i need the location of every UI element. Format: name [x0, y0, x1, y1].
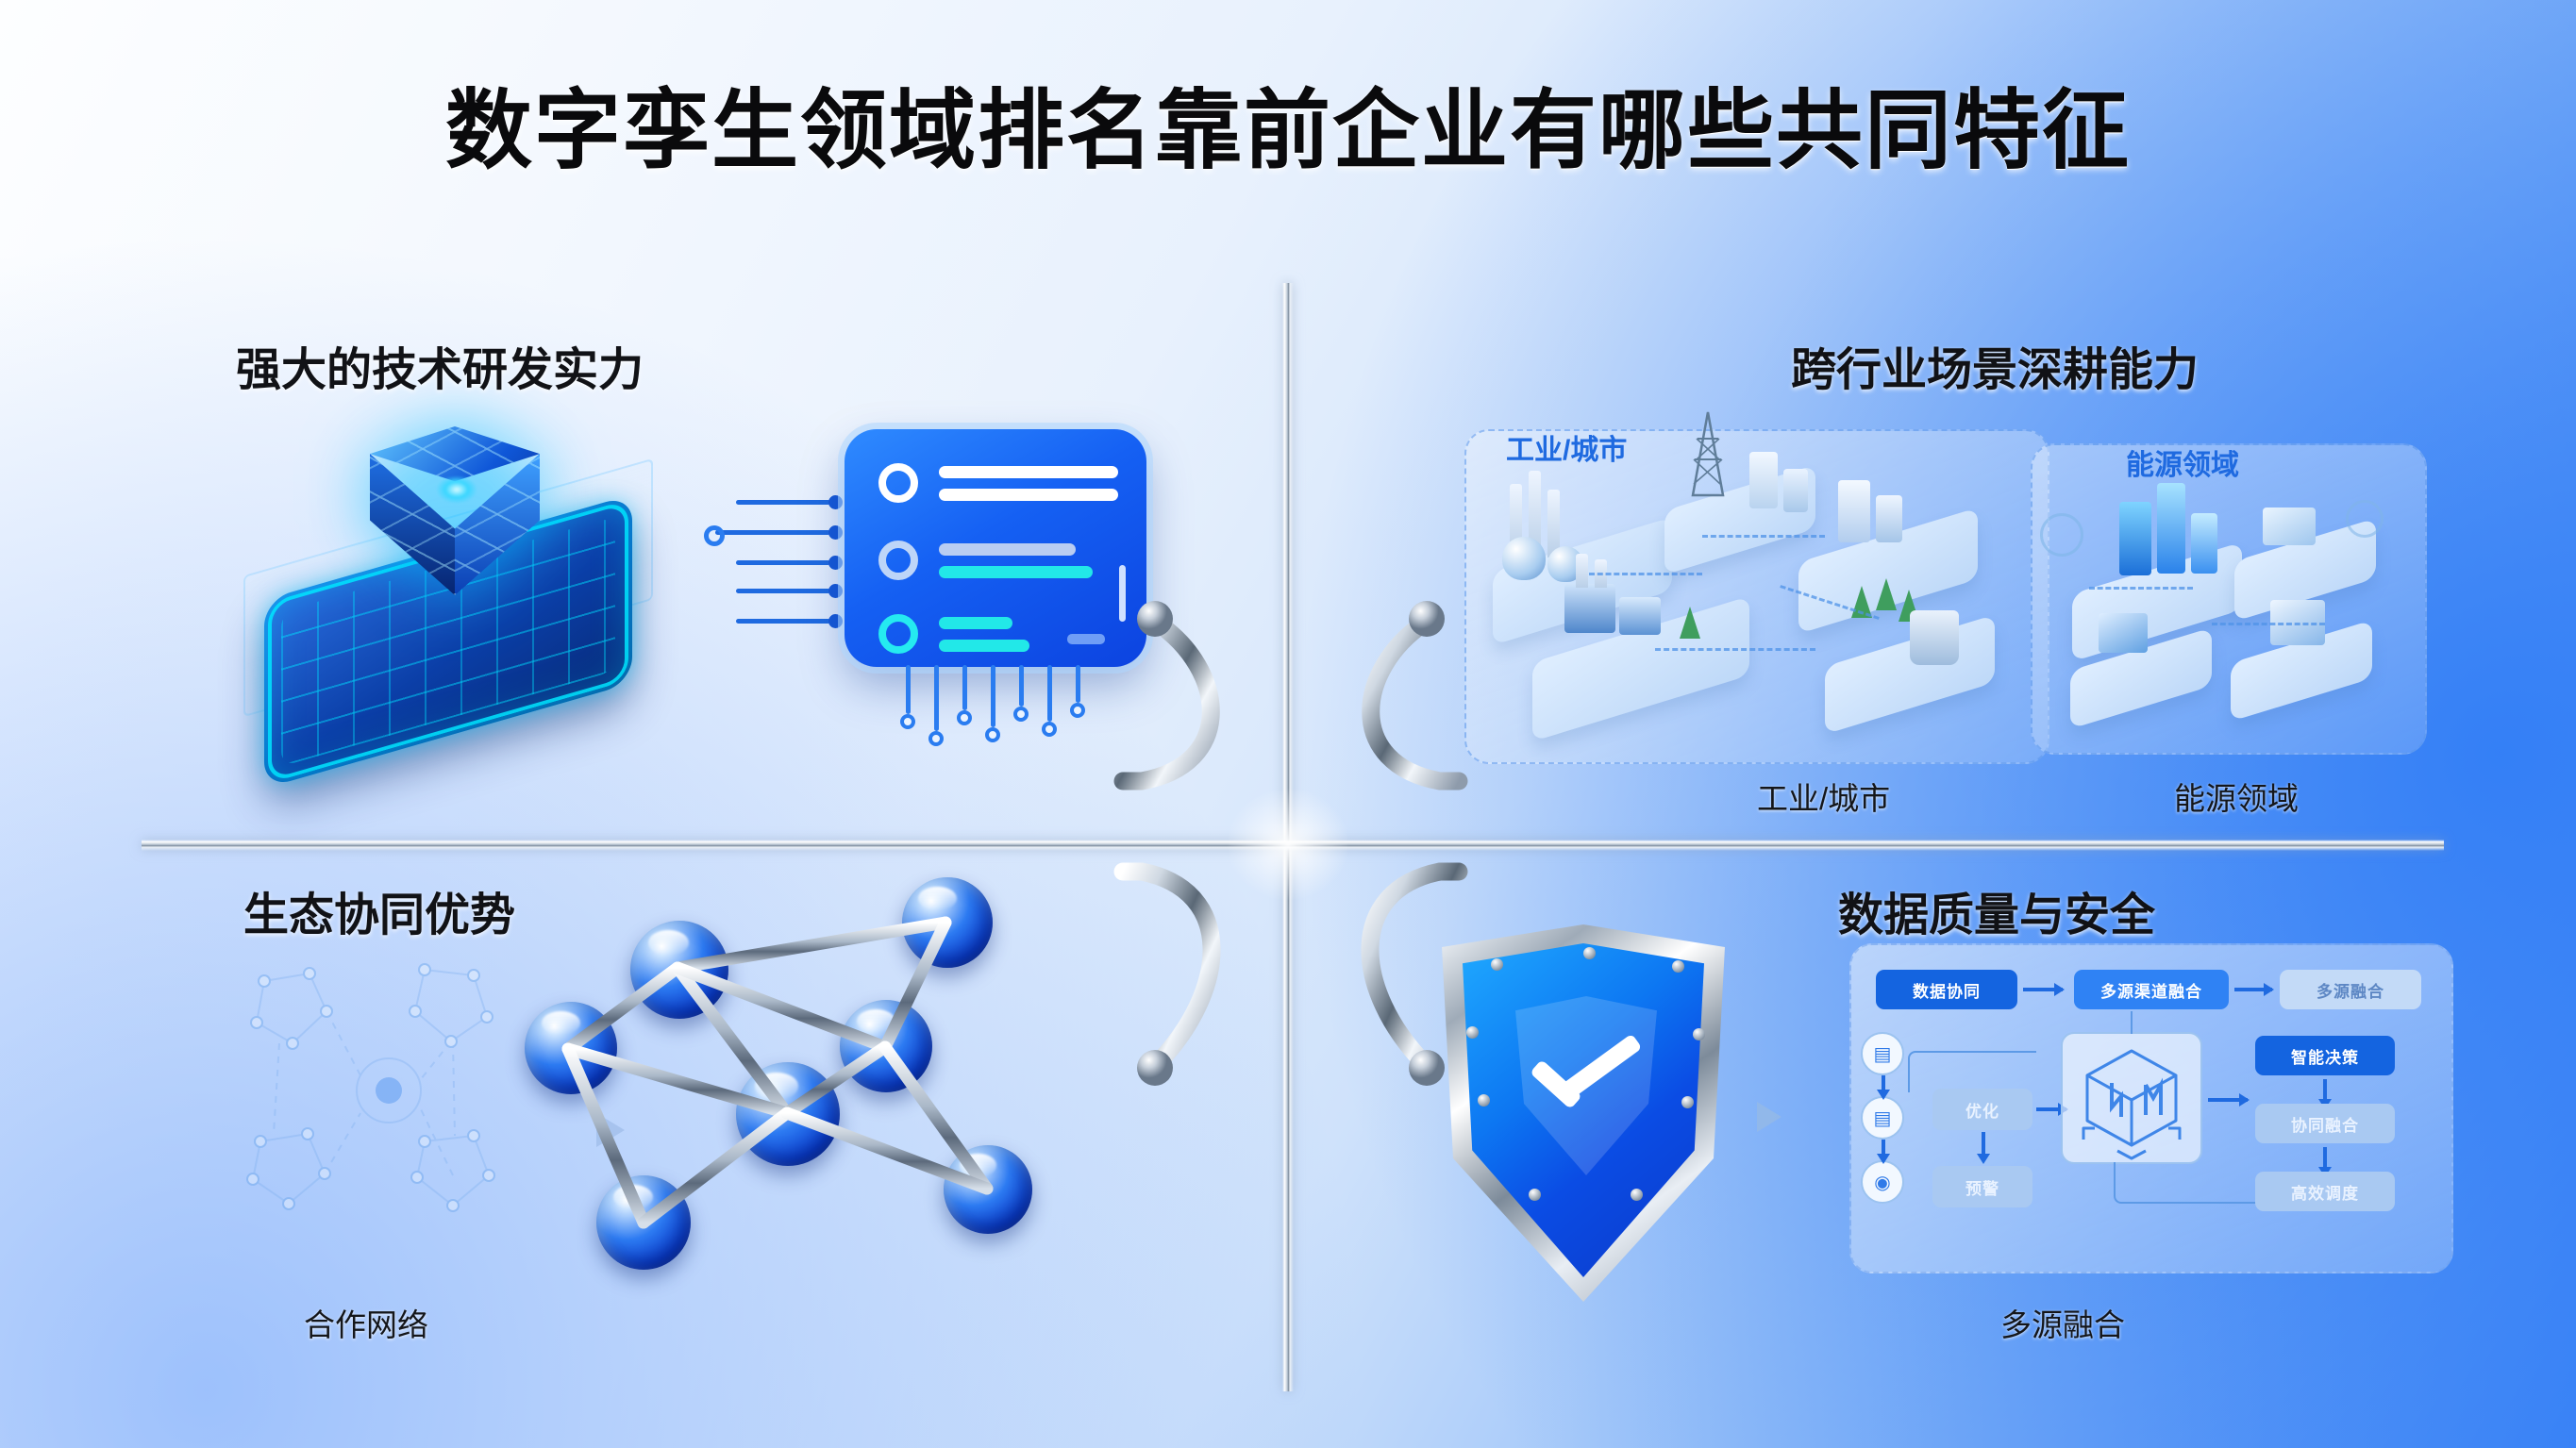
- flow-node-multisource-fusion: 多源融合: [2280, 970, 2421, 1009]
- chip-icon: [845, 429, 1146, 667]
- chip-bullet-1: [878, 463, 918, 503]
- quadrant-heading-industry: 跨行业场景深耕能力: [1791, 332, 2199, 398]
- isometric-data-cube: [243, 406, 659, 774]
- flow-node-smart-decision: 智能决策: [2255, 1036, 2395, 1075]
- check-icon: [1527, 1049, 1646, 1113]
- page-title: 数字孪生领域排名靠前企业有哪些共同特征: [0, 60, 2576, 186]
- flow-node-efficient-dispatch: 高效调度: [2255, 1172, 2395, 1211]
- chrome-hook-connector-bottom-left: [1113, 849, 1302, 1123]
- document-icon: ▤: [1861, 1096, 1904, 1140]
- infographic-canvas: 数字孪生领域排名靠前企业有哪些共同特征 强大的技术研发实力 跨行业场景深耕能力 …: [0, 0, 2576, 1448]
- wireframe-cluster: [236, 962, 547, 1245]
- chip-bullet-2: [878, 541, 918, 580]
- flow-node-collab-fusion: 协同融合: [2255, 1104, 2395, 1143]
- chrome-hook-connector-bottom-right: [1280, 849, 1468, 1123]
- cube-icon: [2061, 1032, 2202, 1164]
- derrick-tower-icon: [1681, 410, 1734, 501]
- caption-industry: 工业/城市: [1757, 774, 1890, 819]
- flow-node-multichannel-fusion: 多源渠道融合: [2074, 970, 2229, 1009]
- quadrant-heading-tech: 强大的技术研发实力: [236, 332, 644, 398]
- flow-node-warning: 预警: [1932, 1166, 2032, 1207]
- database-icon: ▤: [1861, 1032, 1904, 1075]
- flow-node-optimize: 优化: [1932, 1089, 2032, 1130]
- circuit-traces-left: [736, 491, 849, 618]
- scene-panel-industry: [1464, 429, 2049, 764]
- caption-energy: 能源领域: [2174, 774, 2299, 819]
- circuit-traces-bottom: [906, 665, 1104, 750]
- cube-icon: [362, 426, 547, 624]
- caption-cooperation-network: 合作网络: [304, 1300, 428, 1345]
- panel-label-industry: 工业/城市: [1506, 426, 1627, 468]
- scene-panel-energy: [2031, 443, 2427, 755]
- caption-multisource-fusion: 多源融合: [2000, 1300, 2125, 1345]
- shield-icon: [1442, 924, 1725, 1302]
- molecule-bonds: [557, 906, 1142, 1311]
- quadrant-heading-ecosystem: 生态协同优势: [243, 877, 515, 943]
- quadrant-heading-security: 数据质量与安全: [1838, 877, 2155, 943]
- chrome-hook-connector-top-left: [1113, 585, 1302, 849]
- cube-core-glow: [436, 475, 477, 504]
- chip-bullet-3: [878, 614, 918, 654]
- flow-arrow-icon: [1757, 1102, 1781, 1132]
- network-icon: [557, 906, 1142, 1311]
- flow-node-data-collab: 数据协同: [1876, 970, 2017, 1009]
- chrome-hook-connector-top-right: [1280, 585, 1468, 849]
- panel-label-energy: 能源领域: [2126, 441, 2239, 483]
- sensor-icon: ◉: [1861, 1160, 1904, 1204]
- data-fusion-flowchart: 数据协同 多源渠道融合 多源融合 ▤ ▤ ◉ 优化 预警: [1849, 943, 2453, 1273]
